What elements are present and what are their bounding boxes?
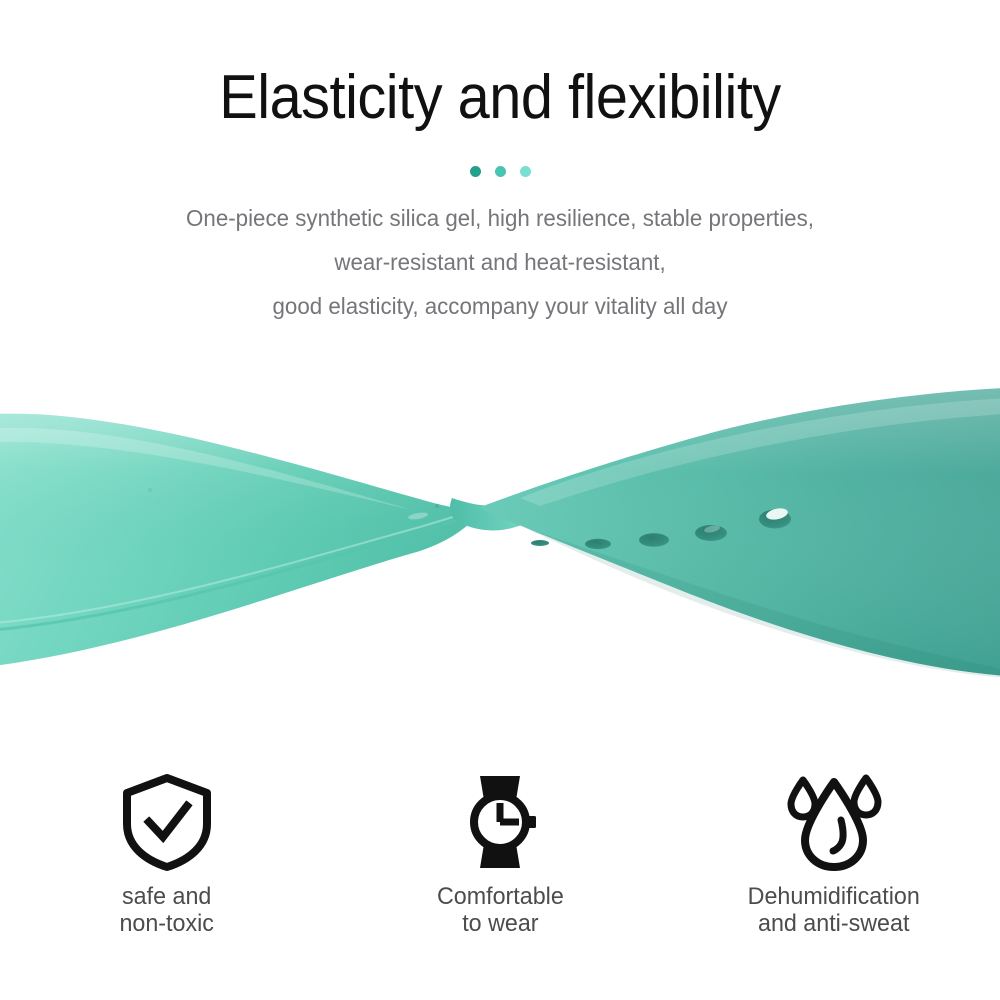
product-feature-page: Elasticity and flexibility One-piece syn…	[0, 0, 1000, 1000]
feature-caption-line-2: and anti-sweat	[747, 910, 919, 937]
dot-medium-icon	[495, 166, 506, 177]
band-right-shading	[478, 388, 1000, 676]
subtitle-line-2: wear-resistant and heat-resistant,	[25, 240, 975, 284]
subtitle-line-3: good elasticity, accompany your vitality…	[25, 284, 975, 328]
feature-caption: Comfortable to wear	[437, 883, 564, 937]
feature-caption: safe and non-toxic	[119, 883, 213, 937]
shield-outline	[127, 778, 207, 867]
feature-caption: Dehumidification and anti-sweat	[747, 883, 919, 937]
feature-caption-line-2: non-toxic	[119, 910, 213, 937]
divider-dots	[0, 166, 1000, 177]
band-surface-speck-1	[148, 488, 152, 492]
adjustment-hole-2	[585, 539, 611, 549]
band-surface-speck-2	[435, 504, 439, 508]
adjustment-hole-3	[639, 533, 669, 547]
band-left-shading	[0, 414, 486, 666]
feature-safe-non-toxic: safe and non-toxic	[0, 770, 333, 950]
adjustment-hole-1	[531, 540, 549, 546]
product-photo	[0, 380, 1000, 700]
wristwatch-icon	[452, 770, 548, 874]
subtitle-line-1: One-piece synthetic silica gel, high res…	[25, 196, 975, 240]
feature-caption-line-2: to wear	[437, 910, 564, 937]
droplet-small-right	[854, 778, 878, 815]
shield-check-icon	[119, 770, 215, 874]
dot-dark-icon	[470, 166, 481, 177]
page-title: Elasticity and flexibility	[35, 0, 965, 134]
check-mark	[149, 806, 187, 837]
feature-caption-line-1: safe and	[119, 883, 213, 910]
droplet-inner-highlight	[833, 820, 843, 851]
feature-caption-line-1: Dehumidification	[747, 883, 919, 910]
subtitle: One-piece synthetic silica gel, high res…	[0, 196, 1000, 328]
feature-dehumidification: Dehumidification and anti-sweat	[667, 770, 1000, 950]
feature-list: safe and non-toxic	[0, 770, 1000, 950]
feature-caption-line-1: Comfortable	[437, 883, 564, 910]
header: Elasticity and flexibility	[0, 0, 1000, 134]
dot-light-icon	[520, 166, 531, 177]
water-droplets-icon	[781, 770, 885, 874]
feature-comfortable-to-wear: Comfortable to wear	[333, 770, 666, 950]
product-image	[0, 380, 1000, 700]
